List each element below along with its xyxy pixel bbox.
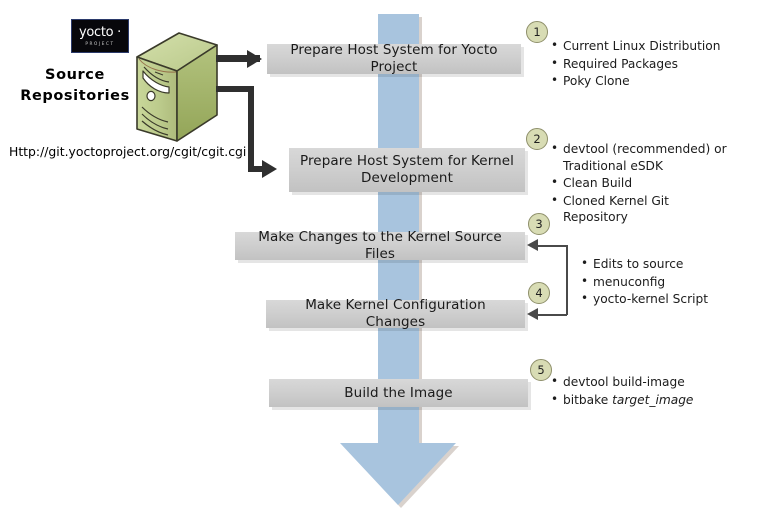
note-item: menuconfig: [581, 274, 769, 291]
yocto-logo-subtext: PROJECT: [85, 41, 114, 46]
note-item: devtool (recommended) or Traditional eSD…: [551, 141, 731, 174]
step-box-5[interactable]: Build the Image: [269, 379, 528, 407]
notes-step-5: devtool build-image bitbake target_image: [551, 374, 751, 409]
notes-step-1: Current Linux Distribution Required Pack…: [551, 38, 766, 91]
note-item: Edits to source: [581, 256, 769, 273]
note-item: Clean Build: [551, 175, 731, 192]
yocto-logo-wordmark: yocto ·: [79, 26, 121, 39]
source-repository-url: Http://git.yoctoproject.org/cgit/cgit.cg…: [9, 144, 246, 159]
step-box-4[interactable]: Make Kernel Configuration Changes: [266, 300, 525, 328]
notes-step-2: devtool (recommended) or Traditional eSD…: [551, 141, 731, 227]
diagram-canvas: yocto · PROJECT Source Repositories Http…: [0, 0, 769, 517]
note-item: Cloned Kernel Git Repository: [551, 193, 731, 226]
bracket-vline-steps-3-4: [566, 245, 568, 315]
source-label-line2: Repositories: [20, 86, 130, 107]
step-box-3[interactable]: Make Changes to the Kernel Source Files: [235, 232, 525, 260]
server-icon: [133, 31, 219, 143]
note-item-text: bitbake: [563, 393, 612, 407]
note-item: Poky Clone: [551, 73, 766, 90]
connector-server-to-step2-arrowhead: [262, 160, 277, 178]
note-item: Current Linux Distribution: [551, 38, 766, 55]
step-number-3: 3: [528, 213, 550, 235]
yocto-project-logo: yocto · PROJECT: [71, 19, 129, 53]
step-box-2[interactable]: Prepare Host System for Kernel Developme…: [289, 148, 525, 192]
step-number-2: 2: [526, 128, 548, 150]
bracket-arrowhead-step-3: [527, 239, 538, 251]
bracket-hline-step-3: [538, 245, 567, 247]
step-number-4: 4: [528, 282, 550, 304]
notes-steps-3-4: Edits to source menuconfig yocto-kernel …: [581, 256, 769, 309]
note-item-emphasis: target_image: [612, 393, 693, 407]
bracket-arrowhead-step-4: [527, 308, 538, 320]
step-number-1: 1: [526, 21, 548, 43]
note-item: devtool build-image: [551, 374, 751, 391]
bracket-hline-step-4: [538, 314, 567, 316]
connector-server-to-step2-vline: [248, 86, 254, 172]
source-label-line1: Source: [20, 65, 130, 86]
step-number-5: 5: [530, 359, 552, 381]
connector-server-to-step1-arrowhead: [247, 50, 262, 68]
note-item: Required Packages: [551, 56, 766, 73]
note-item: bitbake target_image: [551, 392, 751, 409]
note-item: yocto-kernel Script: [581, 291, 769, 308]
source-repositories-label: Source Repositories: [20, 65, 130, 107]
flow-arrow-head: [340, 443, 456, 505]
step-box-1[interactable]: Prepare Host System for Yocto Project: [267, 44, 521, 74]
